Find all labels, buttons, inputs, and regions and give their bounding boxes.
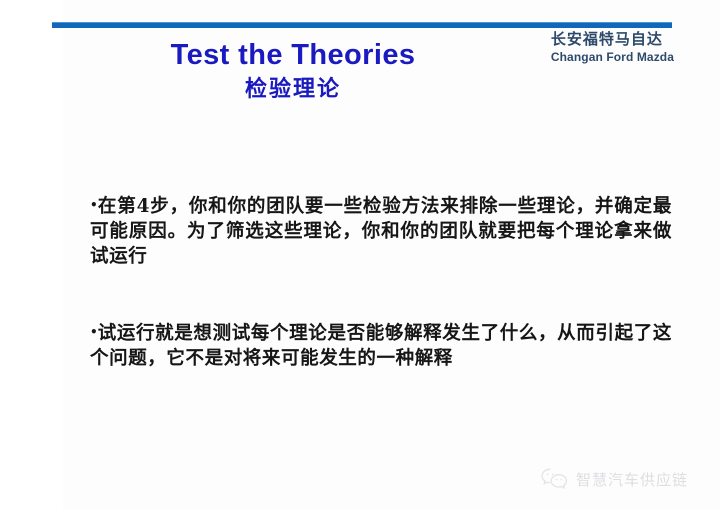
slide-title-area: Test the Theories 检验理论 <box>63 40 523 102</box>
bullet-marker-icon: • <box>90 325 98 339</box>
bullet-item: •试运行就是想测试每个理论是否能够解释发生了什么，从而引起了这个问题，它不是对将… <box>90 320 672 371</box>
bullet-item: •在第4步，你和你的团队要一些检验方法来排除一些理论，并确定最可能原因。为了筛选… <box>90 193 672 269</box>
logo-name-en: Changan Ford Mazda <box>551 51 674 63</box>
header-divider-rule <box>52 22 672 28</box>
corporate-logo: 长安福特马自达 Changan Ford Mazda <box>551 32 674 63</box>
bullet-text: 试运行就是想测试每个理论是否能够解释发生了什么，从而引起了这个问题，它不是对将来… <box>90 323 672 369</box>
bullet-text: 在第4步，你和你的团队要一些检验方法来排除一些理论，并确定最可能原因。为了筛选这… <box>90 196 672 267</box>
slide: 长安福特马自达 Changan Ford Mazda Test the Theo… <box>0 0 720 509</box>
page-subtitle: 检验理论 <box>63 77 523 101</box>
bullet-marker-icon: • <box>90 198 98 212</box>
logo-name-cn: 长安福特马自达 <box>551 32 674 47</box>
page-title: Test the Theories <box>63 40 523 71</box>
slide-body: •在第4步，你和你的团队要一些检验方法来排除一些理论，并确定最可能原因。为了筛选… <box>90 174 672 389</box>
